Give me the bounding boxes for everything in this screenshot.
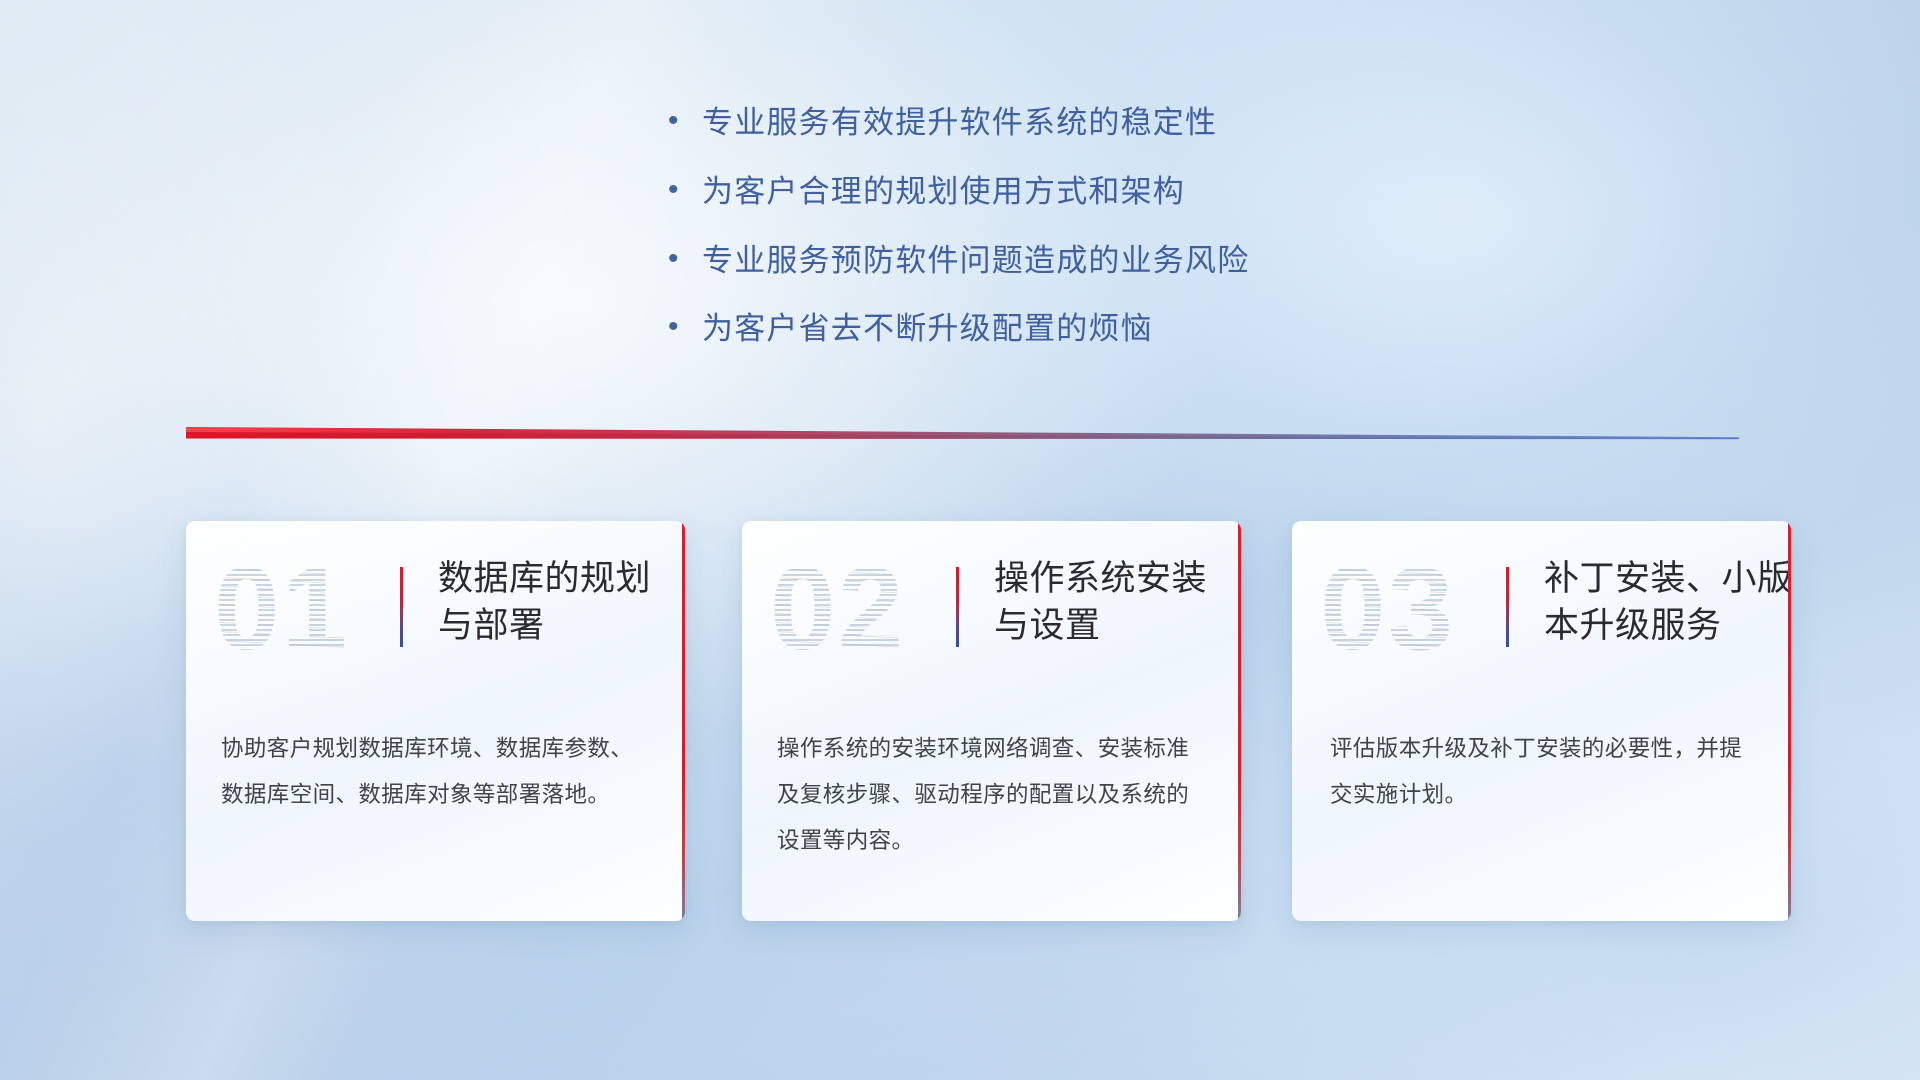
card-header: 03 03 补丁安装、小版本升级服务 <box>1292 521 1791 703</box>
card-header: 02 02 操作系统安装与设置 <box>742 521 1241 703</box>
card-number-watermark-overlay: 02 <box>770 549 930 669</box>
service-card[interactable]: 03 03 补丁安装、小版本升级服务 评估版本升级及补丁安装的必要性，并提交实施… <box>1292 521 1791 921</box>
card-number-watermark-overlay: 03 <box>1320 549 1480 669</box>
benefits-bullet-list: • 专业服务有效提升软件系统的稳定性 • 为客户合理的规划使用方式和架构 • 专… <box>668 104 1249 379</box>
bullet-item-label: 专业服务有效提升软件系统的稳定性 <box>702 104 1217 143</box>
title-accent-rule <box>400 567 403 647</box>
bullet-dot-icon: • <box>668 175 702 205</box>
service-card-list: 01 01 数据库的规划与部署 协助客户规划数据库环境、数据库参数、数据库空间、… <box>0 521 1920 933</box>
service-card[interactable]: 02 02 操作系统安装与设置 操作系统的安装环境网络调查、安装标准及复核步骤、… <box>742 521 1241 921</box>
tapered-rule-icon <box>186 425 1739 447</box>
section-divider <box>186 425 1739 447</box>
bullet-item: • 为客户省去不断升级配置的烦恼 <box>668 310 1249 349</box>
title-accent-rule <box>1506 567 1509 647</box>
card-title: 补丁安装、小版本升级服务 <box>1544 556 1791 649</box>
bullet-item: • 为客户合理的规划使用方式和架构 <box>668 173 1249 212</box>
bullet-item: • 专业服务预防软件问题造成的业务风险 <box>668 242 1249 281</box>
card-description: 评估版本升级及补丁安装的必要性，并提交实施计划。 <box>1330 726 1762 818</box>
card-description: 协助客户规划数据库环境、数据库参数、数据库空间、数据库对象等部署落地。 <box>221 726 653 818</box>
card-number-watermark-overlay: 01 <box>214 549 374 669</box>
card-title: 数据库的规划与部署 <box>438 556 678 649</box>
bullet-item: • 专业服务有效提升软件系统的稳定性 <box>668 104 1249 143</box>
bullet-dot-icon: • <box>668 106 702 136</box>
card-title: 操作系统安装与设置 <box>994 556 1234 649</box>
bullet-item-label: 专业服务预防软件问题造成的业务风险 <box>702 242 1249 281</box>
bullet-dot-icon: • <box>668 244 702 274</box>
bullet-item-label: 为客户合理的规划使用方式和架构 <box>702 173 1185 212</box>
service-card[interactable]: 01 01 数据库的规划与部署 协助客户规划数据库环境、数据库参数、数据库空间、… <box>186 521 685 921</box>
bullet-item-label: 为客户省去不断升级配置的烦恼 <box>702 310 1153 349</box>
card-description: 操作系统的安装环境网络调查、安装标准及复核步骤、驱动程序的配置以及系统的设置等内… <box>777 726 1209 864</box>
bullet-dot-icon: • <box>668 312 702 342</box>
title-accent-rule <box>956 567 959 647</box>
card-header: 01 01 数据库的规划与部署 <box>186 521 685 703</box>
